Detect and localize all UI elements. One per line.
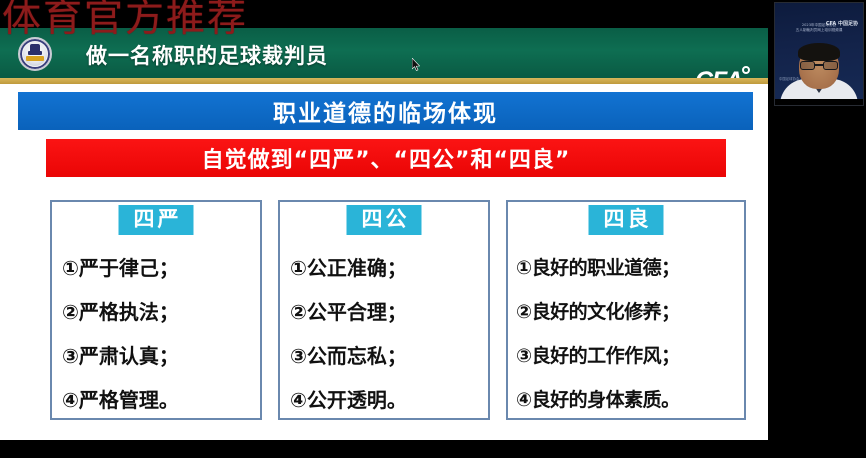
glasses-lens-left xyxy=(800,61,815,70)
mouse-cursor-icon xyxy=(412,58,420,71)
cfa-crest-icon xyxy=(18,37,52,71)
presenter-hair xyxy=(798,43,840,61)
column-box-1: 四严 ①严于律己； ②严格执法； ③严肃认真； ④严格管理。 xyxy=(50,200,262,420)
red-subtitle-banner: 自觉做到“四严”、“四公”和“四良” xyxy=(46,139,726,177)
column-box-2: 四公 ①公正准确； ②公平合理； ③公而忘私； ④公开透明。 xyxy=(278,200,490,420)
slide-header-title: 做一名称职的足球裁判员 xyxy=(86,40,328,70)
presenter-glasses-icon xyxy=(800,61,838,70)
video-corner-label: 中国足球协会 xyxy=(779,76,799,81)
column-badge-2: 四公 xyxy=(347,205,422,235)
video-bottom-bar xyxy=(775,99,863,105)
column-badge-3: 四良 xyxy=(589,205,664,235)
cfa-dot-icon xyxy=(742,66,750,74)
three-column-group: 四严 ①严于律己； ②严格执法； ③严肃认真； ④严格管理。 四公 ①公正准确；… xyxy=(0,200,768,422)
blue-banner-text: 职业道德的临场体现 xyxy=(273,94,498,128)
column-list-1: ①严于律己； ②严格执法； ③严肃认真； ④严格管理。 xyxy=(52,246,260,422)
list-item: ④严格管理。 xyxy=(62,378,254,422)
presentation-slide: 做一名称职的足球裁判员 CFA 体育官方推荐 职业道德的临场体现 自觉做到“四严… xyxy=(0,0,768,440)
column-box-3: 四良 ①良好的职业道德； ②良好的文化修养； ③良好的工作作风； ④良好的身体素… xyxy=(506,200,746,420)
video-overlay-title-line2: 五人制裁判员网上培训视频课 xyxy=(787,28,851,33)
list-item: ②严格执法； xyxy=(62,290,254,334)
list-item: ③公而忘私； xyxy=(290,334,482,378)
glasses-lens-right xyxy=(823,61,838,70)
list-item: ①严于律己； xyxy=(62,246,254,290)
list-item: ④公开透明。 xyxy=(290,378,482,422)
column-list-3: ①良好的职业道德； ②良好的文化修养； ③良好的工作作风； ④良好的身体素质。 xyxy=(508,246,744,422)
list-item: ①公正准确； xyxy=(290,246,482,290)
list-item: ①良好的职业道德； xyxy=(516,246,738,290)
blue-title-banner: 职业道德的临场体现 xyxy=(18,92,753,130)
watermark-text: 体育官方推荐 xyxy=(2,0,332,42)
presenter-video-overlay[interactable]: 2023年中国足球协会 五人制裁判员网上培训视频课 CFA 中国足协 中国足球协… xyxy=(774,2,864,106)
list-item: ②公平合理； xyxy=(290,290,482,334)
column-list-2: ①公正准确； ②公平合理； ③公而忘私； ④公开透明。 xyxy=(280,246,488,422)
video-channel-logo: CFA 中国足协 xyxy=(826,20,858,27)
list-item: ③良好的工作作风； xyxy=(516,334,738,378)
list-item: ②良好的文化修养； xyxy=(516,290,738,334)
list-item: ④良好的身体素质。 xyxy=(516,378,738,422)
header-gold-strip xyxy=(0,78,768,84)
glasses-bridge xyxy=(815,64,823,66)
column-badge-1: 四严 xyxy=(119,205,194,235)
list-item: ③严肃认真； xyxy=(62,334,254,378)
screen-root: 做一名称职的足球裁判员 CFA 体育官方推荐 职业道德的临场体现 自觉做到“四严… xyxy=(0,0,866,458)
crest-ring xyxy=(20,39,50,69)
red-banner-text: 自觉做到“四严”、“四公”和“四良” xyxy=(202,142,571,174)
